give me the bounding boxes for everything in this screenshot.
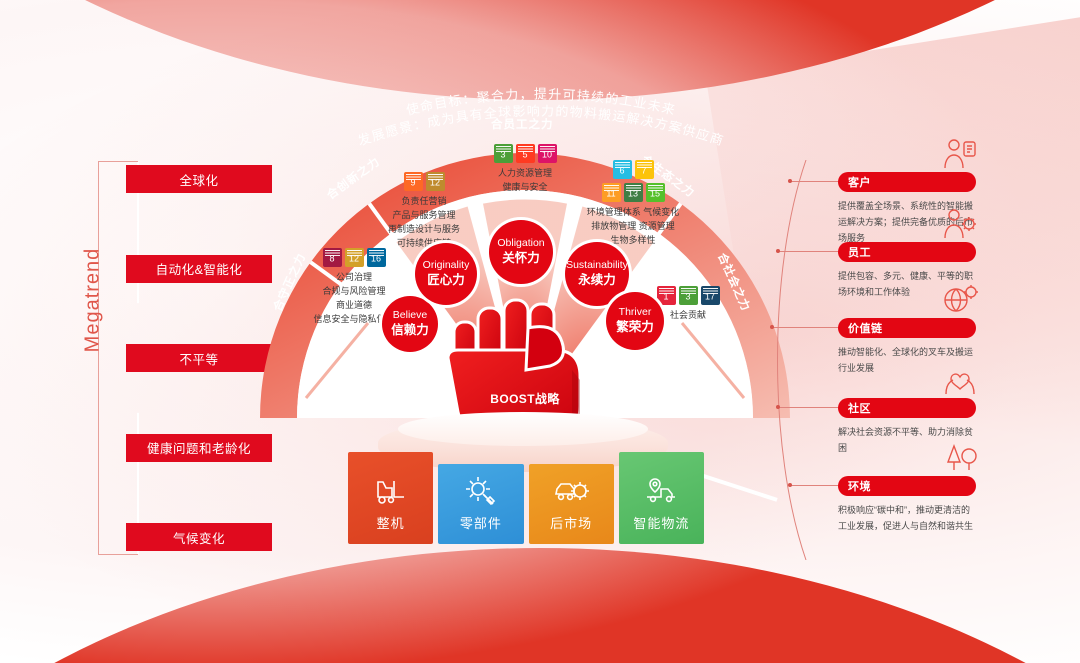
topic-line: 可持续供应链 <box>344 237 504 251</box>
sdg-icon-8: 8 <box>323 248 342 267</box>
pillar-en: Obligation <box>497 237 544 250</box>
sdg-icon-9: 9 <box>404 172 423 191</box>
stakeholder-desc: 积极响应“碳中和”，推动更清洁的工业发展，促进人与自然和谐共生 <box>838 502 976 534</box>
sdg-row-ecology-top: 6 7 <box>548 160 718 179</box>
pillar-believe[interactable]: Believe 信赖力 <box>382 296 438 352</box>
sdg-icon-13: 13 <box>624 183 643 202</box>
sdg-icon-11: 11 <box>602 183 621 202</box>
sdg-icon-15: 15 <box>646 183 665 202</box>
globe-gear-icon <box>942 284 978 316</box>
sdg-icon-7: 7 <box>635 160 654 179</box>
megatrend-label: Megatrend <box>82 248 105 353</box>
stakeholder-title: 客户 <box>838 172 976 192</box>
sdg-icon-17: 17 <box>701 286 720 305</box>
person-gear-icon <box>942 208 978 240</box>
stakeholder-connector-dot <box>788 179 792 183</box>
tree-icon <box>942 442 978 474</box>
hands-heart-icon <box>942 364 978 396</box>
wheel-arc-label-employee[interactable]: 合员工之力 <box>491 116 554 132</box>
business-segments: 整机 零部件 后市场 <box>348 452 704 544</box>
stakeholder-environment[interactable]: 环境 积极响应“碳中和”，推动更清洁的工业发展，促进人与自然和谐共生 <box>838 476 976 534</box>
pillar-obligation[interactable]: Obligation 关怀力 <box>489 220 553 284</box>
wheel-topic-ecology: 6 7 11 13 15 环境管理体系 气候变化 排放物管理 资源管理 生物多样… <box>548 160 718 248</box>
sdg-icon-3: 3 <box>494 144 513 163</box>
sdg-icon-5: 5 <box>516 144 535 163</box>
sdg-row-ecology-bottom: 11 13 15 <box>548 183 718 202</box>
infographic-canvas: 使命目标：聚合力，提升可持续的工业未来 发展愿景：成为具有全球影响力的物料搬运解… <box>0 0 1080 663</box>
business-tab-label: 整机 <box>377 513 405 532</box>
pillar-cn: 繁荣力 <box>616 319 654 336</box>
megatrend-item-climate-change[interactable]: 气候变化 <box>126 523 272 551</box>
business-tab-label: 智能物流 <box>633 513 689 532</box>
topic-line: 环境管理体系 气候变化 <box>548 206 718 220</box>
topic-line: 负责任营销 <box>344 195 504 209</box>
stakeholder-title: 价值链 <box>838 318 976 338</box>
stakeholder-connector <box>790 485 838 486</box>
stakeholder-title: 社区 <box>838 398 976 418</box>
stakeholder-spine <box>766 160 810 560</box>
stakeholder-connector <box>772 327 838 328</box>
boost-strategy-label: BOOST战略 <box>470 390 580 407</box>
stakeholder-connector-dot <box>776 405 780 409</box>
sdg-icon-6: 6 <box>613 160 632 179</box>
sdg-icon-12: 12 <box>345 248 364 267</box>
pillar-cn: 永续力 <box>578 272 616 289</box>
car-service-icon <box>553 477 589 505</box>
sdg-icon-1: 1 <box>657 286 676 305</box>
topic-line: 产品与服务管理 <box>344 209 504 223</box>
business-tab-smart-logistics[interactable]: 智能物流 <box>619 452 704 544</box>
stakeholder-connector-dot <box>776 249 780 253</box>
stakeholder-connector <box>778 251 838 252</box>
pillar-thriver[interactable]: Thriver 繁荣力 <box>606 292 664 350</box>
business-tab-parts[interactable]: 零部件 <box>438 464 523 544</box>
topic-line: 排放物管理 资源管理 <box>548 220 718 234</box>
smart-truck-icon <box>643 477 679 505</box>
sdg-icon-3: 3 <box>679 286 698 305</box>
business-tab-aftermarket[interactable]: 后市场 <box>529 464 614 544</box>
stakeholder-title: 环境 <box>838 476 976 496</box>
stakeholder-connector <box>790 181 838 182</box>
gear-wrench-icon <box>464 475 498 505</box>
stakeholder-title: 员工 <box>838 242 976 262</box>
stakeholder-connector-dot <box>770 325 774 329</box>
pillar-cn: 信赖力 <box>391 322 429 339</box>
stakeholder-connector-dot <box>788 483 792 487</box>
forklift-icon <box>374 477 408 505</box>
sdg-icon-12: 12 <box>426 172 445 191</box>
stakeholder-connector <box>778 407 838 408</box>
pillar-en: Thriver <box>619 306 652 319</box>
pillar-cn: 关怀力 <box>502 250 540 267</box>
pillar-en: Believe <box>393 309 427 322</box>
pillar-en: Originality <box>423 259 470 272</box>
business-tab-label: 后市场 <box>550 513 592 532</box>
pillar-en: Sustainability <box>566 259 628 272</box>
sdg-icon-16: 16 <box>367 248 386 267</box>
person-list-icon <box>942 138 978 170</box>
pillar-cn: 匠心力 <box>427 272 465 289</box>
topic-line: 再制造设计与服务 <box>344 223 504 237</box>
pedestal-top <box>398 412 648 446</box>
topic-line: 生物多样性 <box>548 234 718 248</box>
business-tab-label: 零部件 <box>460 513 502 532</box>
business-tab-machines[interactable]: 整机 <box>348 452 433 544</box>
